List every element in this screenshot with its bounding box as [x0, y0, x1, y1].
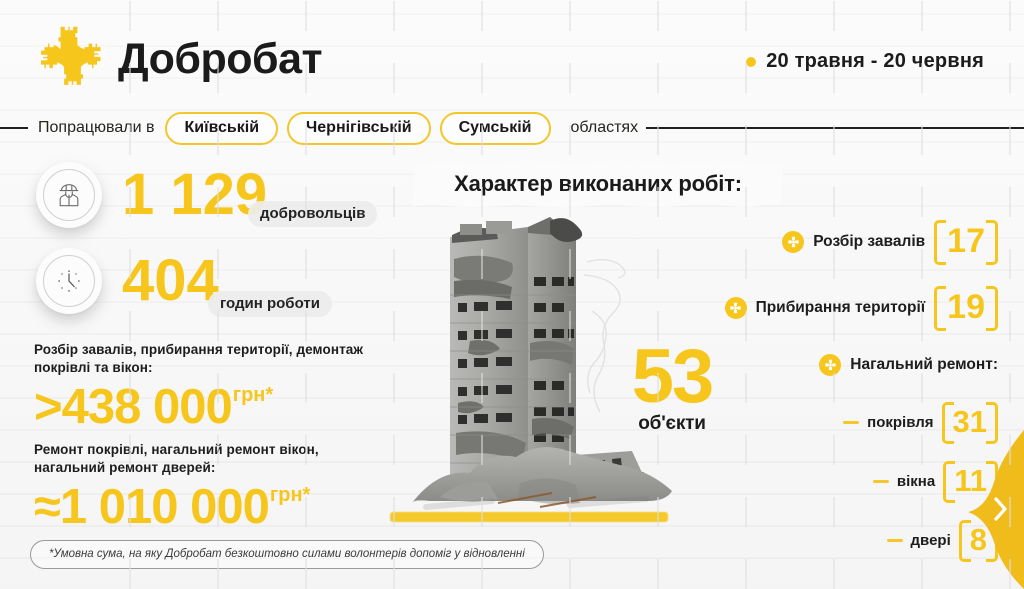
- objects-caption: об'єкти: [612, 413, 732, 435]
- dash-icon: [843, 421, 859, 424]
- regions-suffix: областях: [571, 119, 639, 137]
- cost-block-repair-value: ≈1 010 000: [34, 483, 269, 532]
- work-item-urgent-repair-label: Нагальний ремонт:: [850, 356, 998, 374]
- objects-count: 53: [612, 343, 732, 411]
- work-item-urgent-repair: Нагальний ремонт:: [716, 354, 998, 376]
- date-range: 20 травня - 20 червня: [746, 50, 984, 73]
- stat-hours-value: 404: [122, 253, 219, 308]
- dobrobat-cross-logo-icon: [34, 24, 104, 94]
- objects-counter: 53 об'єкти: [612, 343, 732, 435]
- worker-helmet-icon: [36, 162, 102, 228]
- dash-icon: [887, 539, 903, 542]
- stat-hours: 404 годин роботи: [36, 248, 219, 314]
- regions-prefix: Попрацювали в: [38, 119, 154, 137]
- work-item-debris: Розбір завалів 17: [716, 222, 998, 262]
- stat-volunteers-value: 1 129: [122, 167, 267, 222]
- regions-row: Попрацювали в Київській Чернігівській Су…: [0, 111, 1024, 145]
- footnote: *Умовна сума, на яку Добробат безкоштовн…: [30, 540, 544, 569]
- cost-block-repair-unit: грн*: [270, 485, 310, 505]
- region-pill-sumy[interactable]: Сумській: [440, 112, 551, 145]
- rule-left: [0, 127, 28, 129]
- dot-icon: [746, 57, 756, 67]
- cost-block-repair-value-row: ≈1 010 000 грн*: [34, 483, 386, 532]
- work-item-territory-count: 19: [934, 288, 998, 328]
- dobrobat-cross-badge-icon: [725, 297, 747, 319]
- work-subitem-windows-label: вікна: [897, 473, 935, 490]
- region-pill-chernihiv[interactable]: Чернігівській: [287, 112, 431, 145]
- stat-volunteers: 1 129 добровольців: [36, 162, 267, 228]
- brand-logo: Добробат: [34, 24, 322, 94]
- rule-right: [646, 127, 1024, 129]
- brand-name: Добробат: [118, 38, 322, 81]
- work-item-territory: Прибирання території 19: [716, 288, 998, 328]
- clock-icon: [36, 248, 102, 314]
- cost-block-debris: Розбір завалів, прибирання території, де…: [34, 341, 386, 432]
- dobrobat-cross-badge-icon: [782, 231, 804, 253]
- date-range-text: 20 травня - 20 червня: [766, 50, 984, 73]
- work-item-territory-label: Прибирання території: [756, 299, 926, 317]
- cost-block-debris-value-row: >438 000 грн*: [34, 383, 386, 432]
- work-subitem-roof-label: покрівля: [867, 414, 933, 431]
- dash-icon: [873, 480, 889, 483]
- cost-block-debris-value: >438 000: [34, 383, 232, 432]
- cost-block-debris-label: Розбір завалів, прибирання території, де…: [34, 341, 386, 377]
- work-item-debris-count: 17: [934, 222, 998, 262]
- region-pill-kyiv[interactable]: Київській: [165, 112, 278, 145]
- cost-block-debris-unit: грн*: [233, 385, 273, 405]
- infographic-canvas: Добробат 20 травня - 20 червня Попрацюва…: [0, 0, 1024, 589]
- work-item-debris-label: Розбір завалів: [813, 233, 925, 251]
- stat-volunteers-caption: добровольців: [248, 201, 377, 227]
- center-title: Характер виконаних робіт:: [412, 160, 784, 208]
- dobrobat-cross-badge-icon: [819, 354, 841, 376]
- next-slide-button[interactable]: [944, 430, 1024, 589]
- ground-strip: [390, 512, 668, 522]
- header: Добробат 20 травня - 20 червня: [0, 0, 1024, 108]
- cost-block-repair-label: Ремонт покрівлі, нагальний ремонт вікон,…: [34, 441, 386, 477]
- cost-block-repair: Ремонт покрівлі, нагальний ремонт вікон,…: [34, 441, 386, 532]
- stat-hours-caption: годин роботи: [208, 291, 332, 317]
